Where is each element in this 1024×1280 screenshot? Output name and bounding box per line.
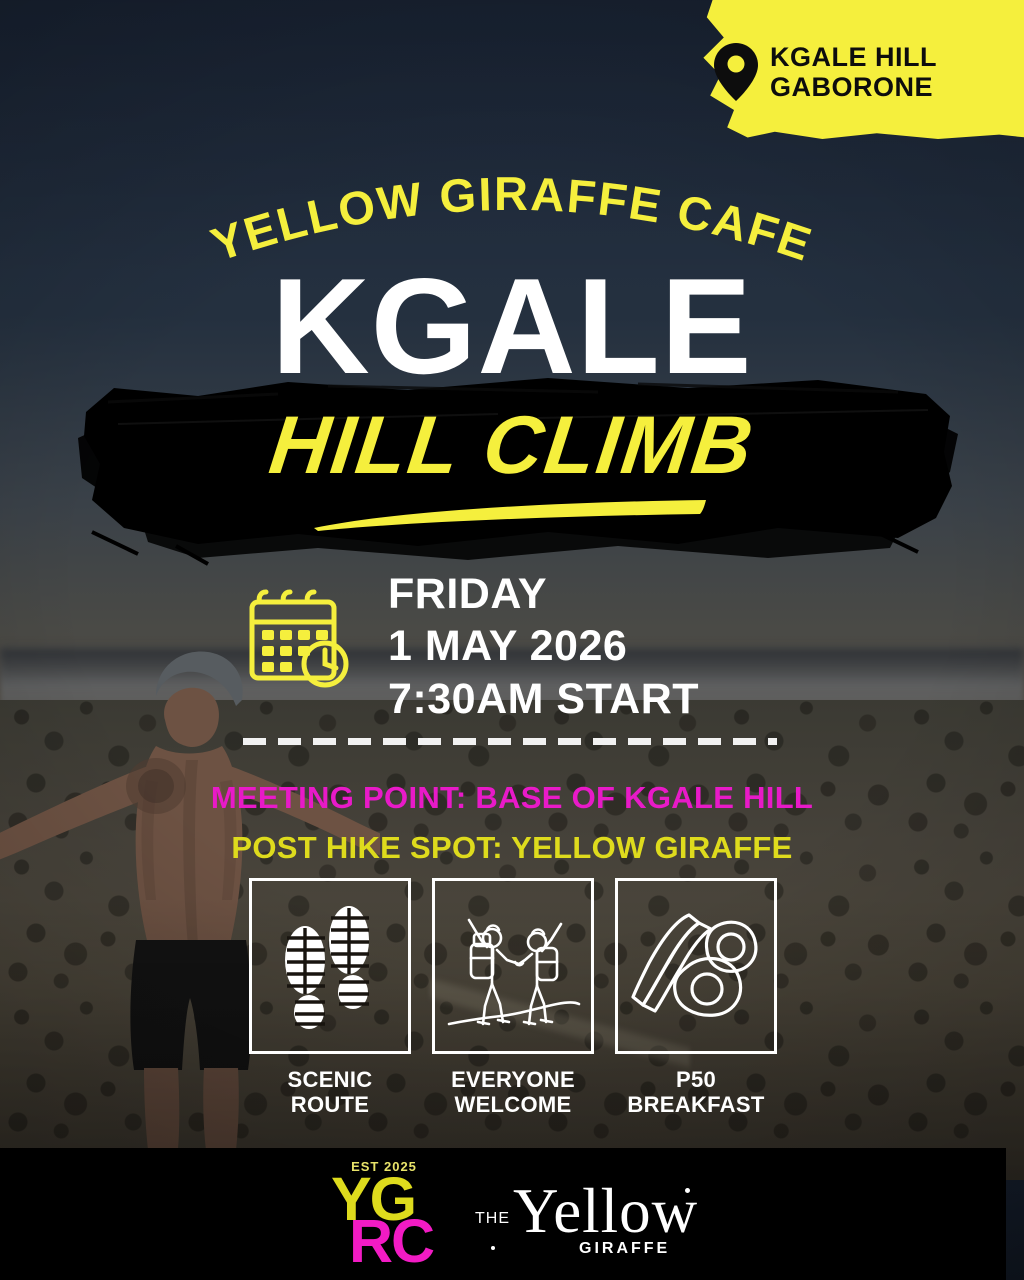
logo-the-text: THE xyxy=(475,1210,510,1228)
footer-logos: EST 2025 YG RC THE Yellow GIRAFFE xyxy=(0,1148,1024,1280)
underline-swoosh xyxy=(310,498,710,532)
ygrc-logo: EST 2025 YG RC xyxy=(325,1155,443,1273)
feature-scenic-route: SCENIC ROUTE xyxy=(249,878,411,1128)
calendar-clock-icon xyxy=(246,588,356,688)
feature-p50-breakfast: P50 BREAKFAST xyxy=(615,878,777,1128)
logo-giraffe-text: GIRAFFE xyxy=(579,1240,670,1258)
feature-box xyxy=(249,878,411,1054)
event-time: 7:30AM START xyxy=(388,673,699,725)
sub-title: HILL CLIMB xyxy=(0,405,1024,487)
event-day: FRIDAY xyxy=(388,568,699,620)
event-date: 1 MAY 2026 xyxy=(388,620,699,672)
bacon-eggs-icon xyxy=(631,907,761,1025)
post-hike-line: POST HIKE SPOT: YELLOW GIRAFFE xyxy=(0,830,1024,866)
dashed-divider xyxy=(243,738,777,745)
logo-dot-lower xyxy=(491,1246,495,1250)
two-hikers-icon xyxy=(445,898,581,1034)
feature-box xyxy=(615,878,777,1054)
feature-row: SCENIC ROUTE xyxy=(249,878,777,1128)
feature-everyone-welcome: EVERYONE WELCOME xyxy=(432,878,594,1128)
location-line-1: KGALE HILL xyxy=(770,42,937,72)
feature-label: EVERYONE WELCOME xyxy=(451,1067,575,1118)
feature-label-line1: P50 xyxy=(627,1067,764,1092)
feature-label: P50 BREAKFAST xyxy=(627,1067,764,1118)
bootprints-icon xyxy=(275,900,385,1032)
event-date-block: FRIDAY 1 MAY 2026 7:30AM START xyxy=(388,568,699,725)
location-line-2: GABORONE xyxy=(770,72,937,102)
event-poster: KGALE HILL GABORONE YELLOW GIRAFFE CAFE … xyxy=(0,0,1024,1280)
feature-label-line2: ROUTE xyxy=(288,1092,373,1117)
feature-box xyxy=(432,878,594,1054)
meeting-point-line: MEETING POINT: BASE OF KGALE HILL xyxy=(0,780,1024,816)
logo-dot-upper xyxy=(685,1188,690,1193)
logo-yellow-text: Yellow xyxy=(513,1180,698,1243)
location-banner-content: KGALE HILL GABORONE xyxy=(714,22,1024,122)
location-pin-icon xyxy=(714,43,758,101)
feature-label-line2: WELCOME xyxy=(451,1092,575,1117)
feature-label-line2: BREAKFAST xyxy=(627,1092,764,1117)
ygrc-bottom-text: RC xyxy=(349,1215,433,1267)
feature-label-line1: SCENIC xyxy=(288,1067,373,1092)
feature-label: SCENIC ROUTE xyxy=(288,1067,373,1118)
yellow-giraffe-logo: THE Yellow GIRAFFE xyxy=(469,1166,699,1262)
feature-label-line1: EVERYONE xyxy=(451,1067,575,1092)
